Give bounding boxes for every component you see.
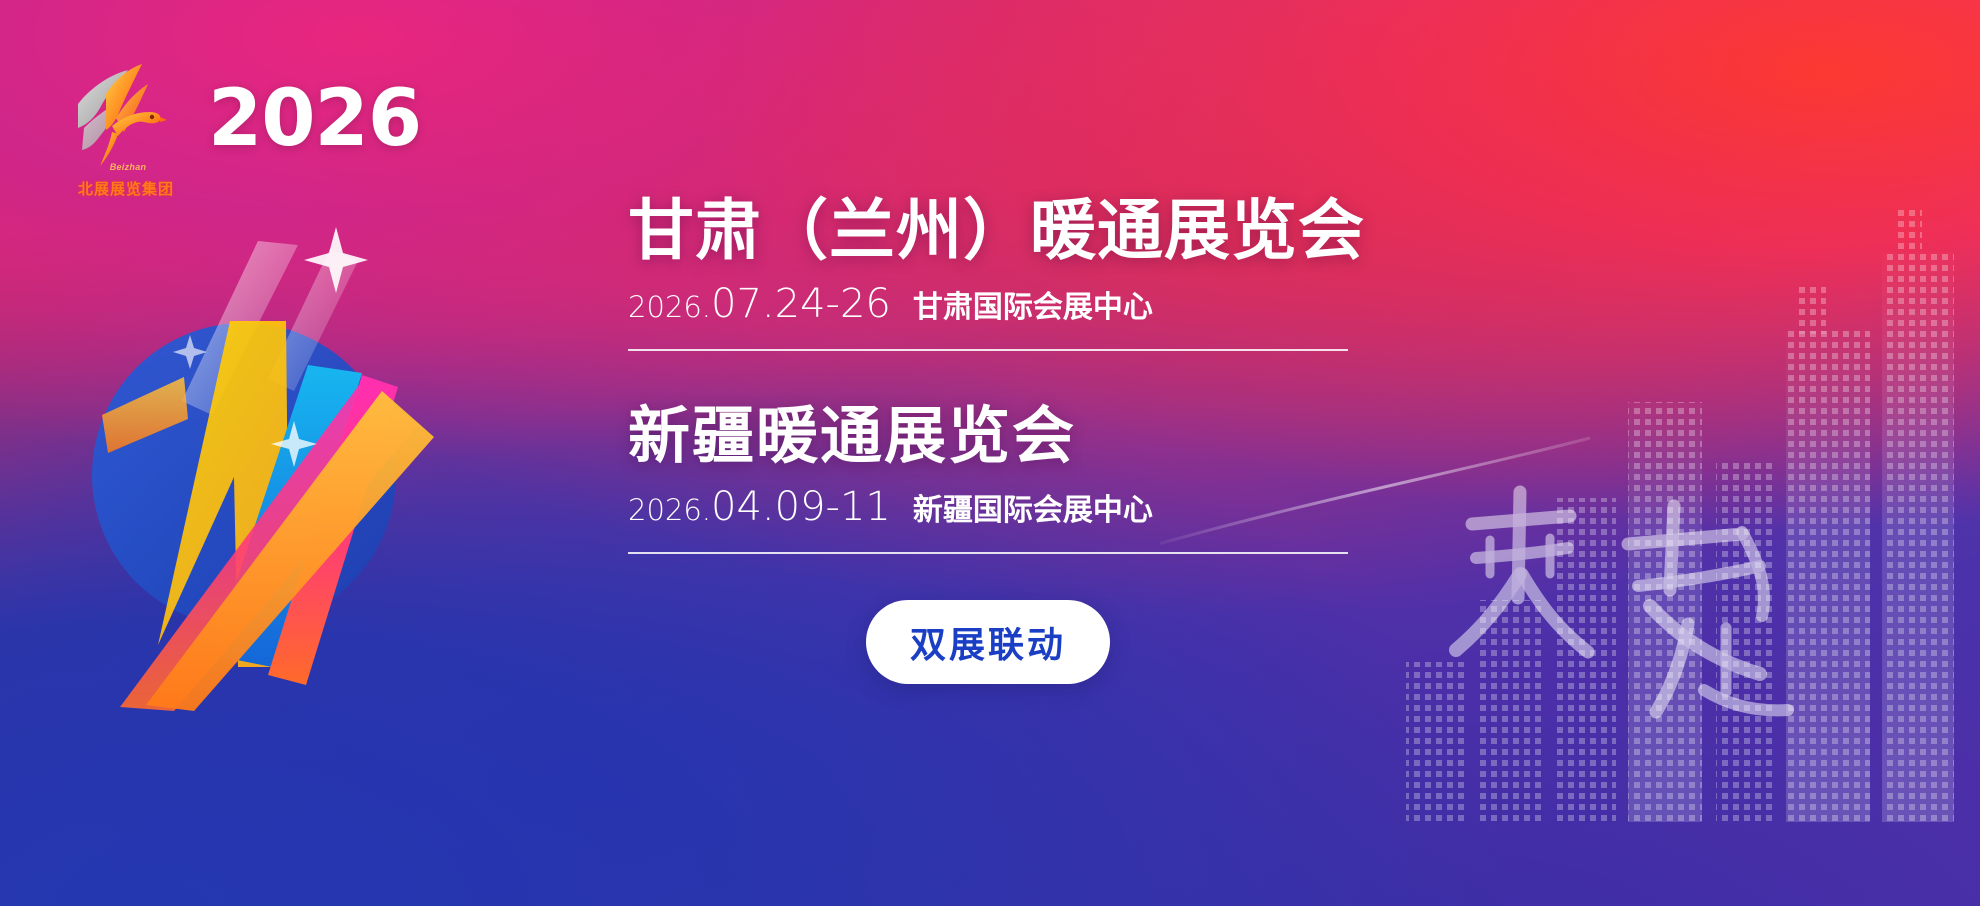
exhibition-meta-2: 2026.04.09-11 新疆国际会展中心	[628, 484, 1388, 530]
exhibition-date-year-2: 2026.	[628, 493, 711, 527]
exhibition-venue-1: 甘肃国际会展中心	[913, 282, 1153, 326]
exhibition-date-year-1: 2026.	[628, 290, 711, 324]
exhibition-date-1: 2026.07.24-26	[628, 281, 891, 327]
exhibition-block-2: 新疆暖通展览会 2026.04.09-11 新疆国际会展中心	[628, 403, 1388, 554]
year-label: 2026	[208, 80, 421, 158]
exhibition-block-1: 甘肃（兰州）暖通展览会 2026.07.24-26 甘肃国际会展中心	[628, 196, 1388, 351]
calligraphy-chengshi	[1442, 478, 1822, 738]
exhibition-title-1: 甘肃（兰州）暖通展览会	[628, 196, 1388, 265]
section-divider	[628, 349, 1348, 351]
exhibition-date-2: 2026.04.09-11	[628, 484, 891, 530]
abstract-n-logo-graphic	[62, 215, 532, 715]
exhibition-date-range-2: 04.09-11	[711, 484, 891, 530]
brand-logo-cn: 北展展览集团	[78, 178, 174, 199]
dual-exhibition-badge[interactable]: 双展联动	[866, 600, 1110, 684]
exhibition-date-range-1: 07.24-26	[711, 281, 891, 327]
phoenix-logo-icon	[72, 58, 168, 178]
exhibition-info: 甘肃（兰州）暖通展览会 2026.07.24-26 甘肃国际会展中心 新疆暖通展…	[628, 196, 1388, 684]
exhibition-title-2: 新疆暖通展览会	[628, 403, 1388, 468]
exhibition-venue-2: 新疆国际会展中心	[913, 485, 1153, 529]
exhibition-meta-1: 2026.07.24-26 甘肃国际会展中心	[628, 281, 1388, 327]
brand-logo-block: Beizhan 北展展览集团 2026	[72, 58, 421, 183]
brand-logo-en: Beizhan	[86, 162, 170, 172]
exhibition-banner: Beizhan 北展展览集团 2026 甘肃（兰州）暖通展览会 2026.07.…	[0, 0, 1980, 906]
